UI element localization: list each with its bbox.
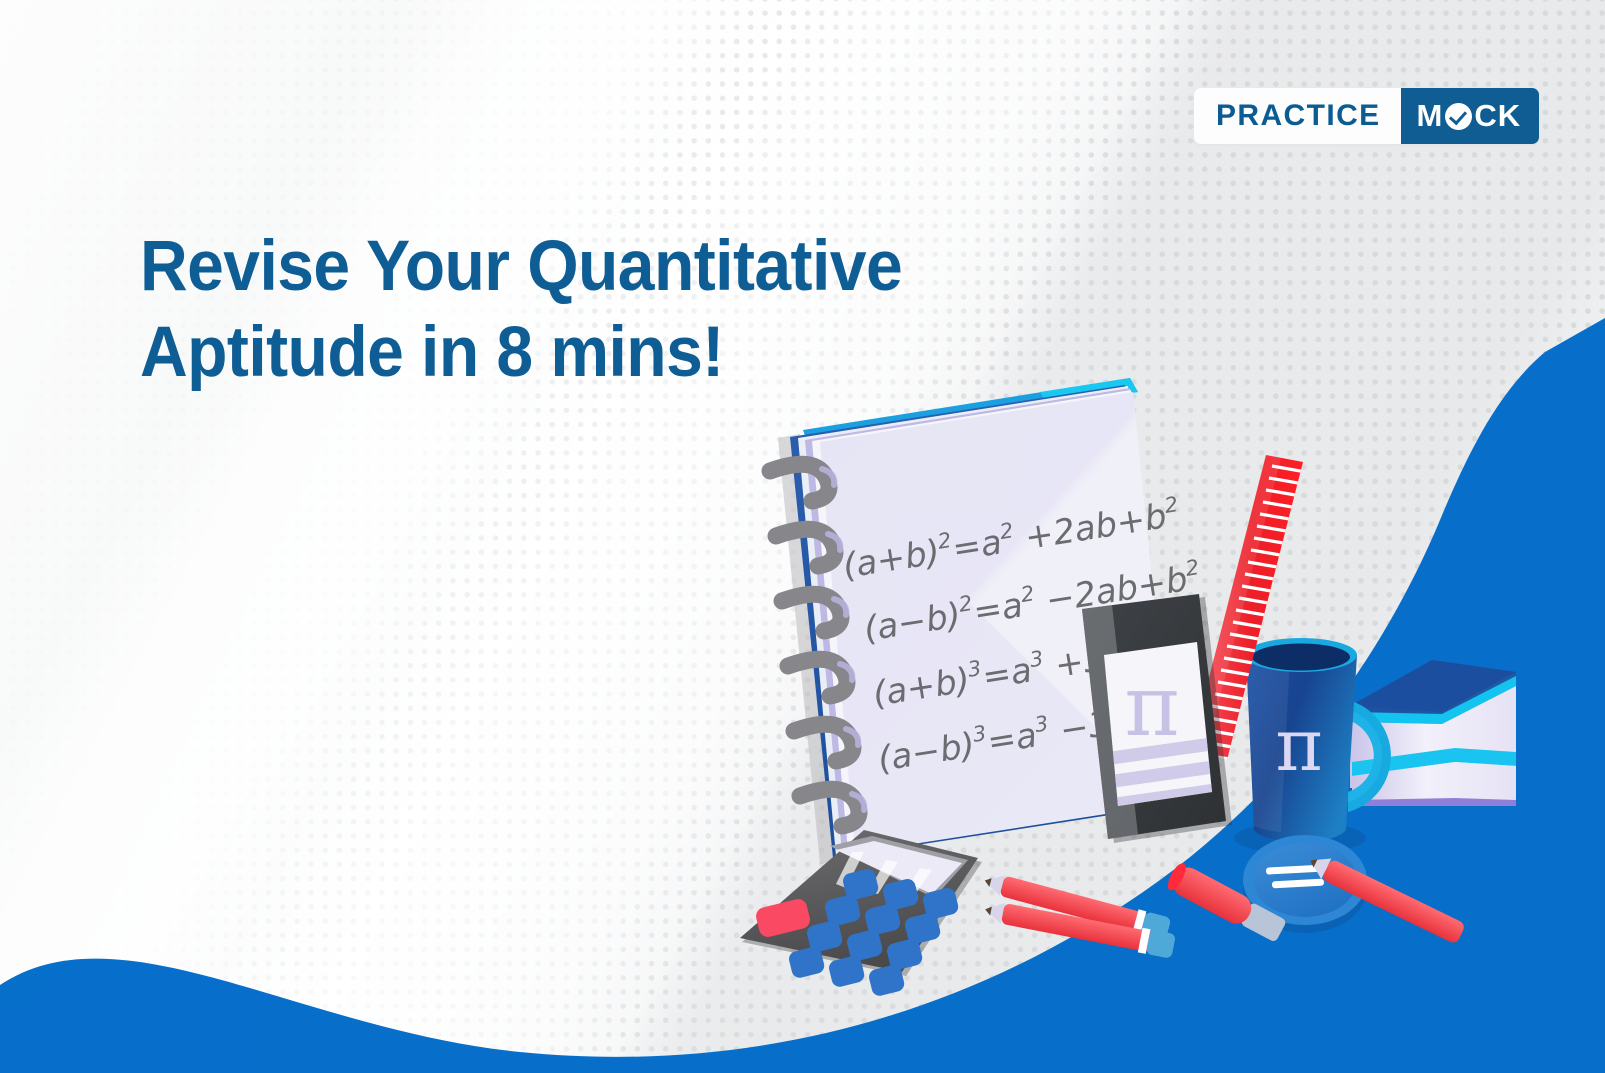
illustration-group: π <box>0 0 1605 1073</box>
mug-pi-symbol: π <box>1275 703 1322 787</box>
logo-mock-m: M <box>1417 98 1444 134</box>
check-icon <box>1445 103 1472 130</box>
logo-mock-ck: CK <box>1474 98 1521 134</box>
logo-mock-block: M CK <box>1401 88 1540 144</box>
brand-logo[interactable]: PRACTICE M CK <box>1194 88 1539 144</box>
magnifying-glass <box>1164 835 1466 945</box>
tablet-pi-symbol: π <box>1124 657 1179 755</box>
red-pencils <box>981 869 1176 959</box>
calculator <box>740 830 982 997</box>
promo-banner: π <box>0 0 1605 1073</box>
logo-practice-text: PRACTICE <box>1216 99 1381 133</box>
page-title: Revise Your Quantitative Aptitude in 8 m… <box>140 224 1033 396</box>
logo-practice-block: PRACTICE <box>1194 88 1401 144</box>
headline-line-1: Revise Your Quantitative <box>140 227 902 306</box>
tablet-pi: π <box>1082 594 1232 843</box>
headline-line-2: Aptitude in 8 mins! <box>140 310 1033 396</box>
logo-mock-text: M CK <box>1417 98 1522 134</box>
